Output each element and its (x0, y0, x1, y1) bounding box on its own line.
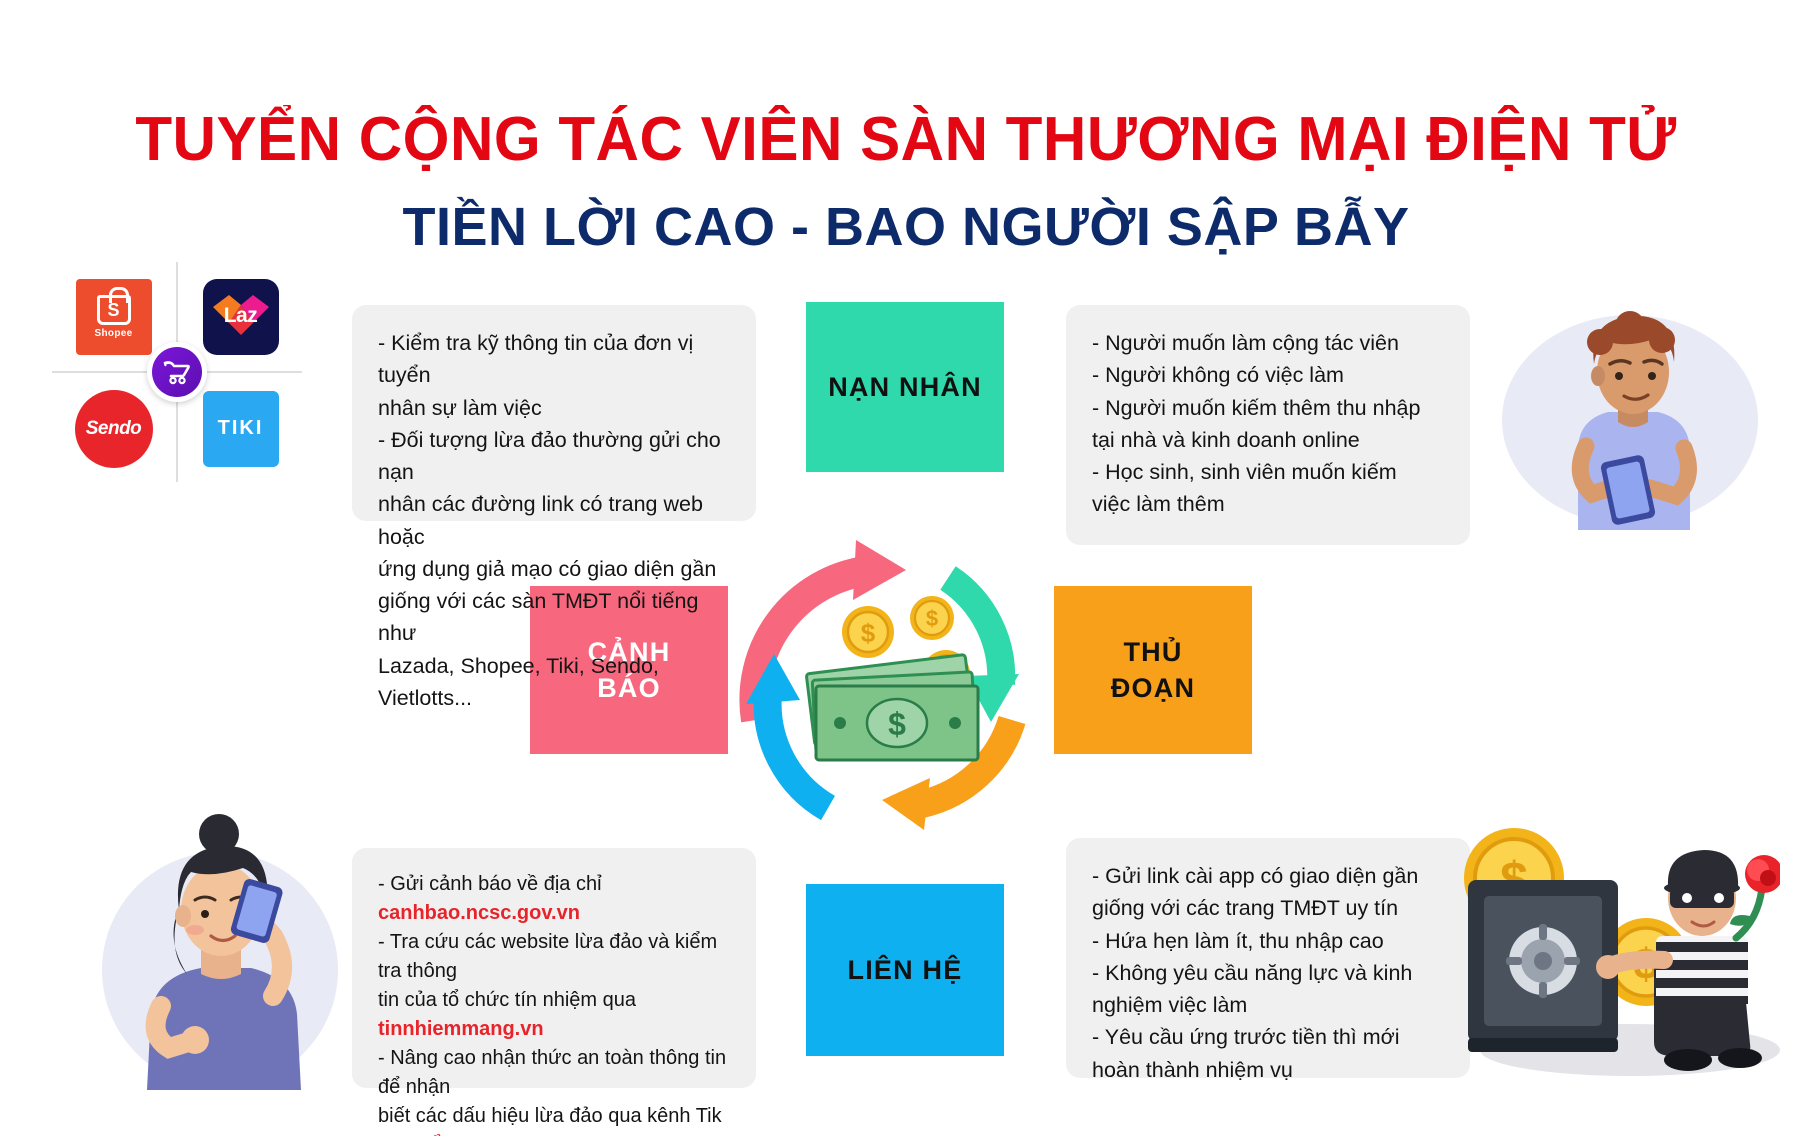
shopee-letter: S (107, 301, 119, 319)
link-canhbao-ncsc[interactable]: canhbao.ncsc.gov.vn (378, 902, 580, 924)
logo-cell-lazada: Laz (189, 270, 292, 363)
panel-line: biết các dấu hiệu lừa đảo qua kênh Tik T… (378, 1102, 730, 1136)
shopee-label: Shopee (95, 328, 133, 339)
shopee-icon: S Shopee (76, 279, 152, 355)
coin-icon: $ (842, 606, 894, 658)
panel-line: - Kiểm tra kỹ thông tin của đơn vị tuyển (378, 327, 730, 392)
contact-text: biết các dấu hiệu lừa đảo qua kênh Tik T… (378, 1105, 722, 1136)
page-title-main: TUYỂN CỘNG TÁC VIÊN SÀN THƯƠNG MẠI ĐIỆN … (27, 104, 1785, 175)
category-nan-nhan-label: NẠN NHÂN (828, 369, 982, 405)
panel-line: Lazada, Shopee, Tiki, Sendo, Vietlotts..… (378, 650, 730, 715)
svg-text:$: $ (861, 618, 876, 648)
svg-text:$: $ (888, 706, 906, 742)
tiki-label: TIKI (218, 417, 264, 440)
striped-shirt (1656, 936, 1748, 1004)
panel-line: tại nhà và kinh doanh online (1092, 424, 1444, 456)
category-thu-doan-line1: THỦ (1123, 637, 1182, 667)
sendo-icon: Sendo (75, 390, 153, 468)
link-tinnhiemmang[interactable]: tinnhiemmang.vn (378, 1018, 544, 1040)
panel-victims: - Người muốn làm cộng tác viên - Người k… (1066, 305, 1470, 545)
panel-line: - Hứa hẹn làm ít, thu nhập cao (1092, 925, 1444, 957)
panel-line: - Người muốn kiếm thêm thu nhập (1092, 392, 1444, 424)
banknote-stack-icon: $ (806, 655, 978, 760)
category-nan-nhan: NẠN NHÂN (806, 302, 1004, 472)
ecommerce-logo-grid: S Shopee Laz Sendo TIKI (62, 270, 292, 475)
panel-line: tin của tổ chức tín nhiệm qua tinnhiemma… (378, 986, 730, 1044)
contact-text: tin của tổ chức tín nhiệm qua (378, 989, 636, 1011)
panel-contact: - Gửi cảnh báo về địa chỉ canhbao.ncsc.g… (352, 848, 756, 1088)
panel-line: - Gửi link cài app có giao diện gần (1092, 860, 1444, 892)
illustration-woman-with-phone (95, 790, 345, 1090)
money-and-coins-icon: $ $ $ $ (800, 590, 1020, 780)
panel-warning-details: - Kiểm tra kỹ thông tin của đơn vị tuyển… (352, 305, 756, 521)
panel-line: - Nâng cao nhận thức an toàn thông tin đ… (378, 1044, 730, 1102)
category-lien-he-label: LIÊN HỆ (848, 952, 963, 988)
illustration-man-with-phone (1480, 280, 1780, 530)
panel-line: hoàn thành nhiệm vụ (1092, 1054, 1444, 1086)
panel-line: việc làm thêm (1092, 488, 1444, 520)
panel-line: - Gửi cảnh báo về địa chỉ canhbao.ncsc.g… (378, 870, 730, 928)
tiki-icon: TIKI (203, 391, 279, 467)
page-title-sub: TIỀN LỜI CAO - BAO NGƯỜI SẬP BẪY (0, 196, 1812, 258)
panel-line: - Học sinh, sinh viên muốn kiếm (1092, 456, 1444, 488)
panel-line: - Yêu cầu ứng trước tiền thì mới (1092, 1021, 1444, 1053)
panel-line: - Người muốn làm cộng tác viên (1092, 327, 1444, 359)
panel-line: - Đối tượng lừa đảo thường gửi cho nạn (378, 424, 730, 489)
illustration-thief-with-safe: $ $ (1440, 770, 1780, 1080)
category-lien-he: LIÊN HỆ (806, 884, 1004, 1056)
shopping-cart-icon (162, 359, 192, 385)
logo-cell-shopee: S Shopee (62, 270, 165, 363)
logo-cell-tiki: TIKI (189, 382, 292, 475)
panel-line: - Người không có việc làm (1092, 359, 1444, 391)
panel-line: ứng dụng giả mạo có giao diện gần (378, 553, 730, 585)
panel-line: giống với các sàn TMĐT nổi tiếng như (378, 585, 730, 650)
contact-text: - Gửi cảnh báo về địa chỉ (378, 873, 602, 895)
panel-line: giống với các trang TMĐT uy tín (1092, 892, 1444, 924)
shopping-cart-hub (147, 342, 207, 402)
infographic-root: TUYỂN CỘNG TÁC VIÊN SÀN THƯƠNG MẠI ĐIỆN … (0, 0, 1812, 1136)
category-thu-doan-line2: ĐOẠN (1111, 673, 1195, 703)
panel-line: nhân sự làm việc (378, 392, 730, 424)
svg-text:$: $ (926, 606, 938, 631)
panel-line: nghiệm việc làm (1092, 989, 1444, 1021)
panel-tricks: - Gửi link cài app có giao diện gần giốn… (1066, 838, 1470, 1078)
sendo-label: Sendo (86, 418, 142, 440)
logo-cell-sendo: Sendo (62, 382, 165, 475)
panel-line: nhân các đường link có trang web hoặc (378, 488, 730, 553)
coin-icon: $ (910, 596, 954, 640)
panel-line: - Không yêu cầu năng lực và kinh (1092, 957, 1444, 989)
lazada-icon: Laz (203, 279, 279, 355)
panel-line: - Tra cứu các website lừa đảo và kiểm tr… (378, 928, 730, 986)
lazada-label: Laz (224, 304, 258, 328)
